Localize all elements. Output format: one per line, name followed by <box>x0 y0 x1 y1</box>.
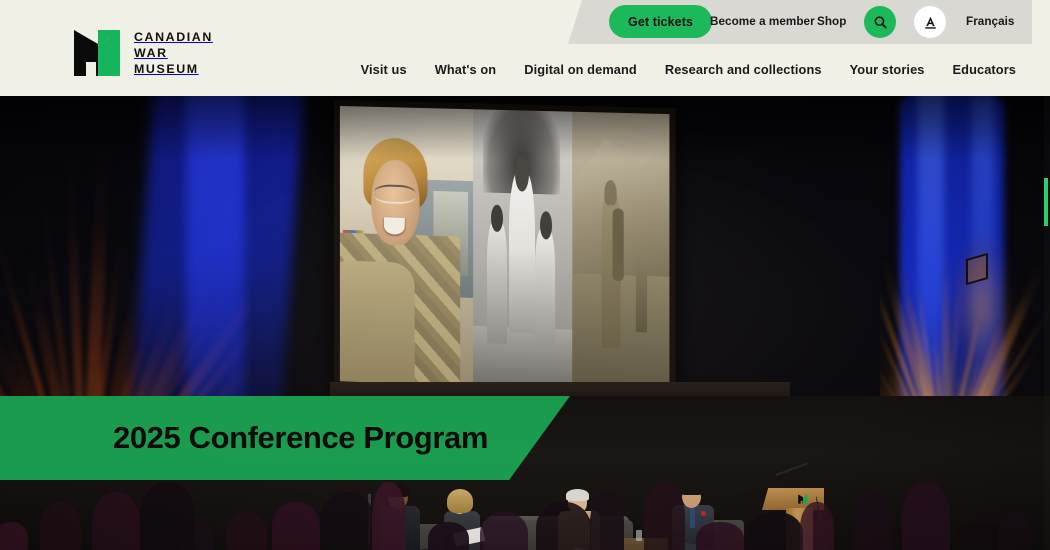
nav-item-digital-on-demand[interactable]: Digital on demand <box>524 62 637 77</box>
page-scrollbar-thumb[interactable] <box>1044 178 1048 226</box>
search-icon <box>873 15 888 30</box>
page-title: 2025 Conference Program <box>113 420 488 456</box>
hero-title-banner: 2025 Conference Program <box>0 396 570 480</box>
audience-silhouettes <box>0 484 1050 550</box>
projection-slide-1 <box>340 106 473 387</box>
site-logo-wordmark: CANADIAN WAR MUSEUM <box>134 29 213 77</box>
get-tickets-button[interactable]: Get tickets <box>609 5 712 38</box>
language-toggle-link[interactable]: Français <box>966 15 1014 28</box>
become-a-member-link[interactable]: Become a member <box>710 15 815 28</box>
hero-image <box>0 96 1050 550</box>
projection-slide-2 <box>473 109 572 391</box>
nav-item-your-stories[interactable]: Your stories <box>850 62 925 77</box>
utility-bar: Get tickets Become a member Shop Françai… <box>568 0 1050 44</box>
search-button[interactable] <box>864 6 896 38</box>
hero-banner: 2025 Conference Program <box>0 96 1050 550</box>
nav-item-educators[interactable]: Educators <box>953 62 1016 77</box>
projection-slide-3 <box>572 112 669 395</box>
nav-item-research-and-collections[interactable]: Research and collections <box>665 62 822 77</box>
page-scrollbar-track[interactable] <box>1044 96 1050 550</box>
canadian-war-museum-logo-icon <box>74 28 122 78</box>
site-header: Get tickets Become a member Shop Françai… <box>0 0 1050 96</box>
site-logo-link[interactable]: CANADIAN WAR MUSEUM <box>74 28 213 78</box>
nav-item-visit-us[interactable]: Visit us <box>361 62 407 77</box>
accessibility-a-icon <box>922 14 939 31</box>
projection-screen <box>334 100 676 401</box>
page-root: Get tickets Become a member Shop Françai… <box>0 0 1050 550</box>
nav-item-whats-on[interactable]: What's on <box>435 62 497 77</box>
shop-link[interactable]: Shop <box>817 15 846 28</box>
projection-screen-content <box>340 106 670 395</box>
main-navigation: Visit us What's on Digital on demand Res… <box>361 62 1016 77</box>
accessibility-button[interactable] <box>914 6 946 38</box>
